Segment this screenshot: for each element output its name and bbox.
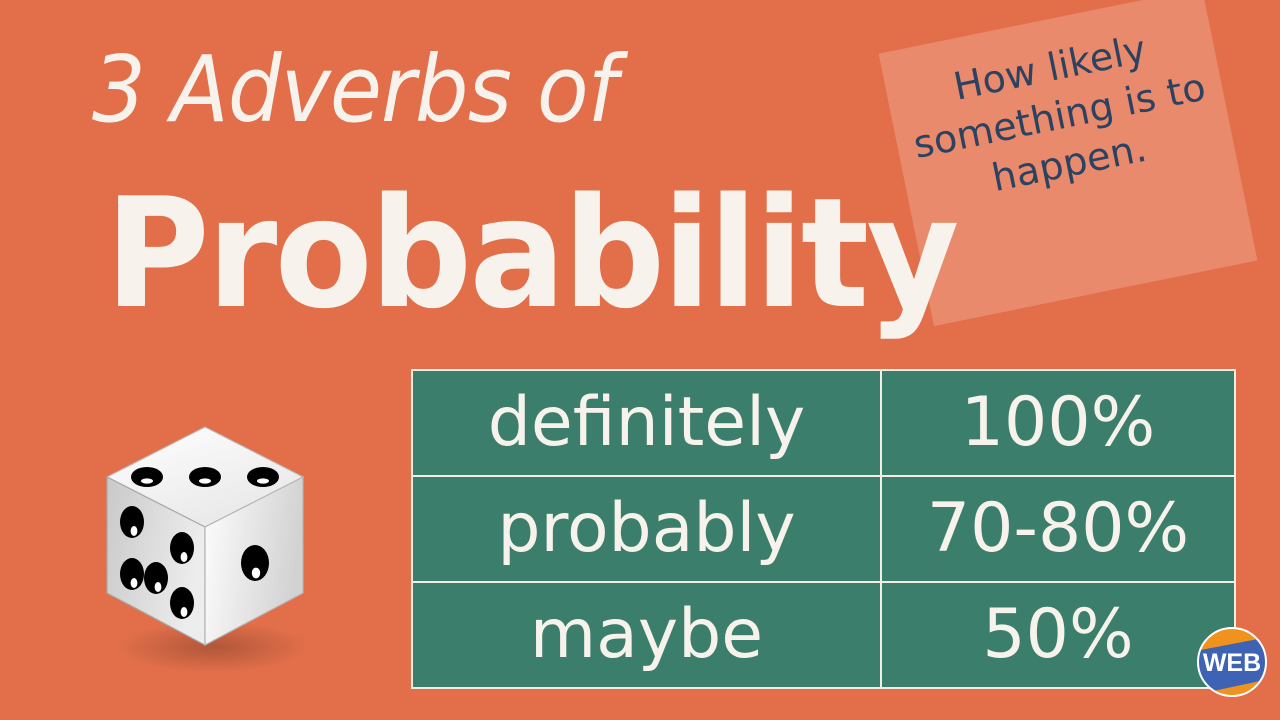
table-row: probably 70-80%	[412, 476, 1235, 582]
table-cell-percent: 70-80%	[881, 476, 1235, 582]
web-logo-text: WEB	[1203, 649, 1261, 677]
web-logo: WEB	[1196, 626, 1268, 698]
table-cell-term: maybe	[412, 582, 881, 688]
page-title-line-2: Probability	[105, 178, 957, 330]
dice-icon	[85, 415, 325, 675]
table-cell-term: probably	[412, 476, 881, 582]
table-row: maybe 50%	[412, 582, 1235, 688]
probability-table: definitely 100% probably 70-80% maybe 50…	[411, 369, 1236, 689]
table-row: definitely 100%	[412, 370, 1235, 476]
page-title-line-1: 3 Adverbs of	[92, 44, 617, 136]
table-cell-percent: 100%	[881, 370, 1235, 476]
table-cell-term: definitely	[412, 370, 881, 476]
table-cell-percent: 50%	[881, 582, 1235, 688]
slide-canvas: How likely something is to happen. 3 Adv…	[0, 0, 1280, 720]
